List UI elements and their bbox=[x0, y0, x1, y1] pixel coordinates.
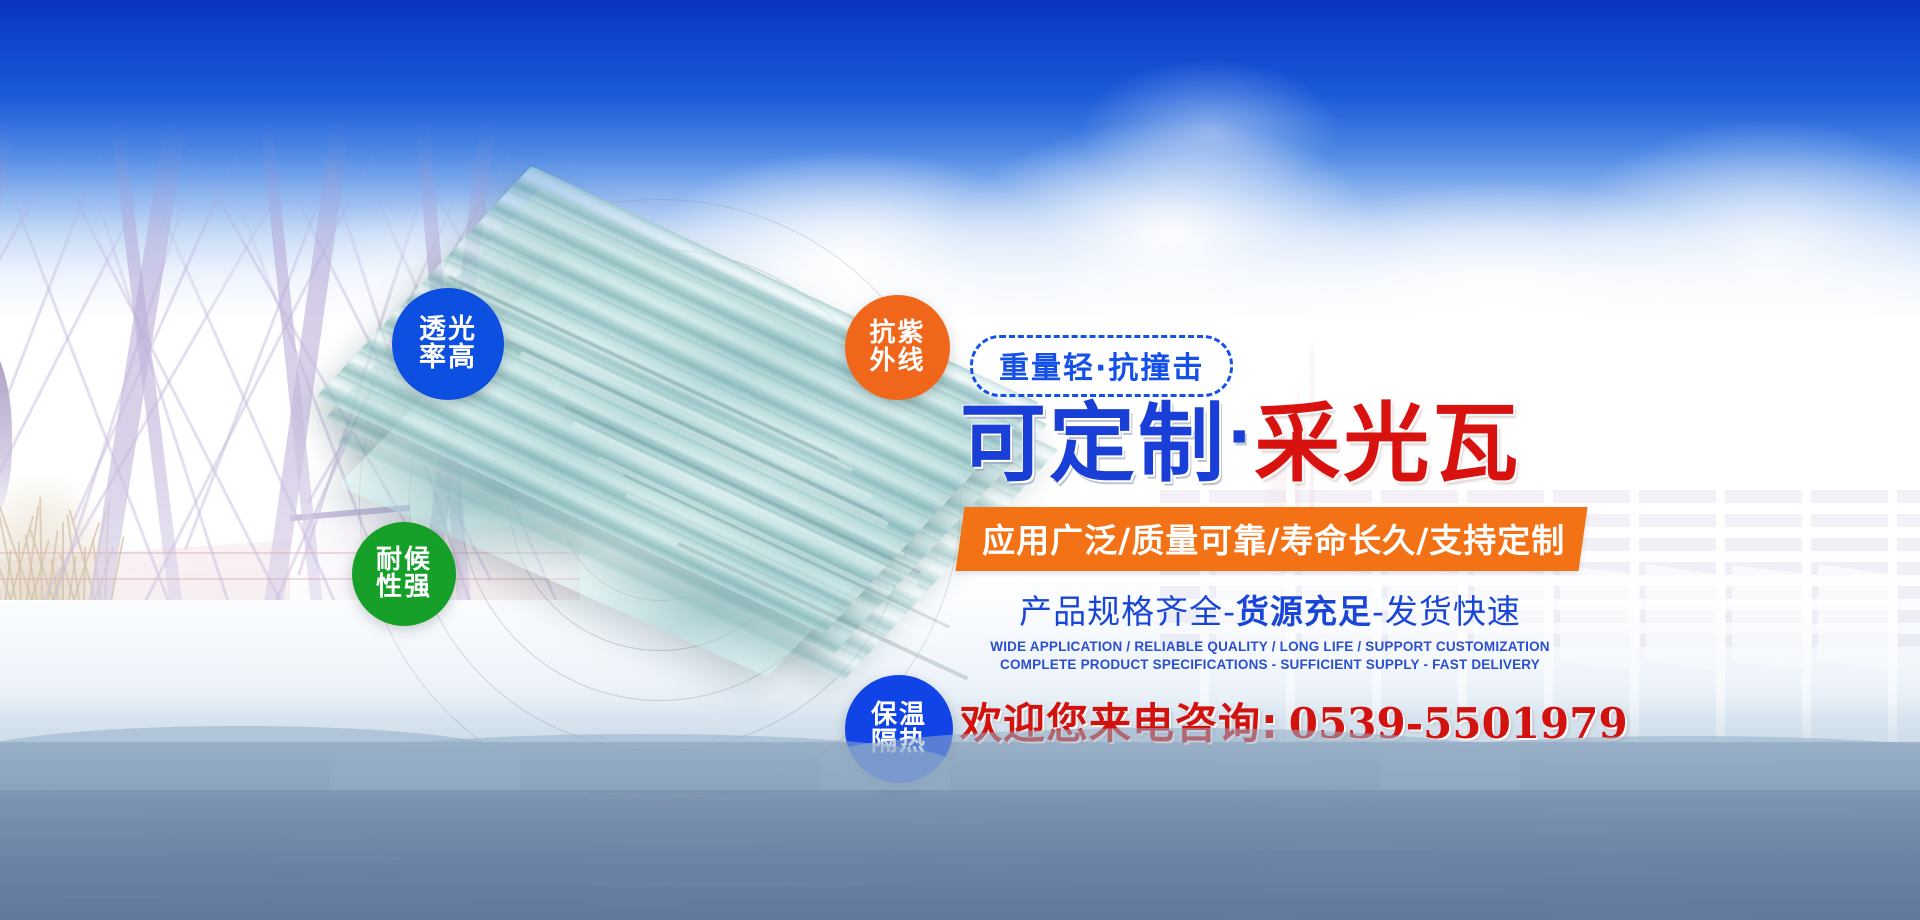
water-ripple bbox=[1216, 846, 1474, 849]
water-ripple bbox=[893, 907, 1102, 909]
water-ripple bbox=[257, 879, 418, 882]
water-ripple bbox=[580, 818, 790, 822]
promotional-banner: 透光 率高 抗紫 外线 耐候 性强 保温 隔热 重量轻·抗撞击 可定制·采光瓦 … bbox=[0, 0, 1920, 920]
badge-line-2: 外线 bbox=[869, 348, 925, 375]
water-ripple bbox=[1527, 829, 1618, 833]
feature-badge-uv[interactable]: 抗紫 外线 bbox=[845, 295, 950, 400]
water-ripple bbox=[263, 857, 402, 860]
water-ripple bbox=[895, 843, 1010, 845]
water-ripple bbox=[578, 882, 882, 886]
badge-line-1: 透光 bbox=[419, 316, 477, 344]
water-ripple bbox=[588, 902, 682, 906]
water-ripple bbox=[0, 832, 182, 834]
water-ripple bbox=[267, 899, 478, 902]
water-ripple bbox=[0, 810, 166, 812]
water-ripple bbox=[0, 874, 258, 876]
badge-line-1: 耐候 bbox=[376, 547, 432, 574]
water-ripple bbox=[899, 885, 1086, 887]
water-ripple bbox=[0, 790, 106, 792]
feature-badge-transmittance[interactable]: 透光 率高 bbox=[392, 288, 504, 400]
spec-line: 产品规格齐全-货源充足-发货快速 bbox=[960, 585, 1580, 633]
distant-hill bbox=[1380, 736, 1920, 790]
feature-pill: 重量轻·抗撞击 bbox=[970, 335, 1233, 397]
badge-line-1: 保温 bbox=[871, 702, 927, 729]
spec-part-2: 货源充足 bbox=[1236, 592, 1372, 631]
benefits-bar-label: 应用广泛/质量可靠/寿命长久/支持定制 bbox=[982, 514, 1565, 562]
water-ripple bbox=[1212, 804, 1398, 807]
water-ripple bbox=[259, 815, 586, 818]
water-ripple bbox=[891, 801, 1194, 803]
water-ripple bbox=[1531, 871, 1694, 875]
headline-product: 采光瓦 bbox=[1254, 394, 1521, 494]
water-ripple bbox=[1214, 910, 1306, 913]
headline-separator: · bbox=[1227, 401, 1254, 475]
benefits-bar: 应用广泛/质量可靠/寿命长久/支持定制 bbox=[956, 507, 1588, 571]
water-ripple bbox=[901, 821, 994, 823]
badge-line-2: 率高 bbox=[419, 344, 477, 372]
spec-part-1: 产品规格齐全- bbox=[1019, 592, 1236, 631]
water-ripple bbox=[1210, 868, 1490, 871]
water-ripple bbox=[1533, 807, 1862, 811]
building-slab bbox=[1818, 564, 1898, 671]
water-ripple bbox=[269, 835, 386, 838]
water-ripple bbox=[584, 860, 866, 864]
feature-badge-weather[interactable]: 耐候 性强 bbox=[352, 522, 456, 626]
grass-blade bbox=[39, 497, 43, 600]
headline-prefix: 可定制 bbox=[960, 394, 1227, 494]
building-slab bbox=[1732, 566, 1812, 670]
water-ripple bbox=[0, 896, 274, 898]
water-ripple bbox=[0, 854, 198, 856]
english-line-2: COMPLETE PRODUCT SPECIFICATIONS - SUFFIC… bbox=[960, 657, 1580, 672]
water-ripple bbox=[1537, 849, 1678, 853]
english-line-1: WIDE APPLICATION / RELIABLE QUALITY / LO… bbox=[960, 639, 1580, 654]
headline: 可定制·采光瓦 bbox=[960, 401, 1700, 489]
water-ripple bbox=[265, 793, 570, 796]
water-ripple bbox=[586, 796, 774, 800]
water-ripple bbox=[1525, 893, 1710, 897]
spec-part-3: -发货快速 bbox=[1372, 592, 1521, 631]
badge-line-2: 性强 bbox=[376, 574, 432, 601]
badge-line-1: 抗紫 bbox=[869, 320, 925, 347]
water-ripple bbox=[574, 840, 806, 844]
water-ripple bbox=[905, 863, 1070, 865]
water-ripple bbox=[1220, 888, 1550, 891]
water-ripple bbox=[1535, 913, 1770, 917]
marketing-text-block: 重量轻·抗撞击 可定制·采光瓦 应用广泛/质量可靠/寿命长久/支持定制 产品规格… bbox=[960, 335, 1700, 751]
